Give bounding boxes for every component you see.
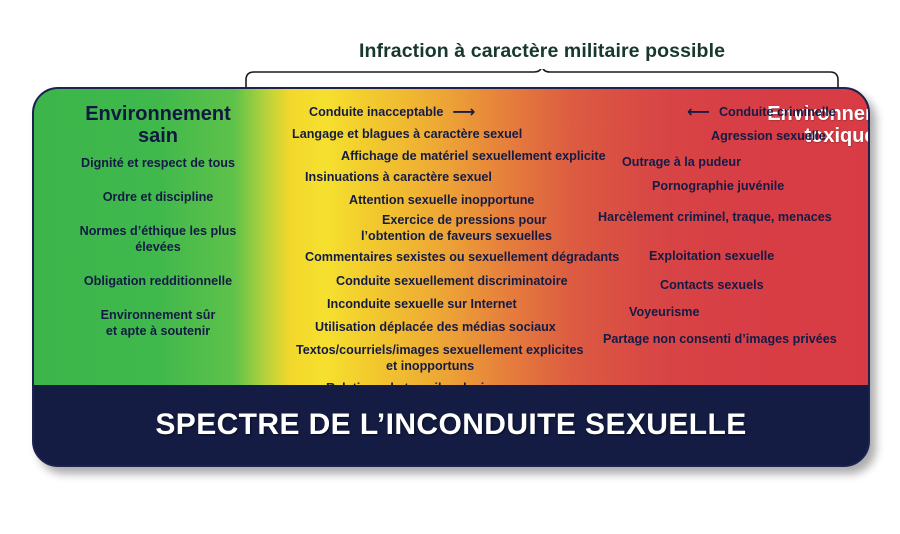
criminal-conduct-label: Conduite criminelle <box>719 105 836 119</box>
toxic-right-item: Harcèlement criminel, traque, menaces <box>598 210 832 225</box>
healthy-environment-column: Environnement sain Dignité et respect de… <box>34 89 282 385</box>
toxic-right-item: Partage non consenti d’images privées <box>603 332 837 347</box>
healthy-heading-line1: Environnement <box>85 103 231 125</box>
healthy-heading: Environnement sain <box>44 103 272 148</box>
toxic-right-item: Outrage à la pudeur <box>622 155 741 170</box>
arrow-left-icon: ⟵ <box>687 104 710 120</box>
toxic-middle-item: Exercice de pressions pour <box>382 213 547 228</box>
toxic-middle-item: Langage et blagues à caractère sexuel <box>292 127 522 142</box>
healthy-item: Obligation redditionnelle <box>34 274 282 289</box>
healthy-item: Ordre et discipline <box>34 190 282 205</box>
toxic-middle-item: Textos/courriels/images sexuellement exp… <box>296 343 583 358</box>
toxic-right-item: Agression sexuelle <box>711 129 826 144</box>
healthy-item: Environnement sûr <box>34 308 282 323</box>
unacceptable-conduct-label: Conduite inacceptable <box>309 105 443 119</box>
criminal-conduct-arrow-row: ⟵ Conduite criminelle <box>687 104 836 120</box>
toxic-environment-column: Environnement toxique Conduite inaccepta… <box>282 89 870 385</box>
banner: SPECTRE DE L’INCONDUITE SEXUELLE <box>34 385 868 465</box>
healthy-item: Dignité et respect de tous <box>34 156 282 171</box>
healthy-heading-line2: sain <box>138 125 178 147</box>
spectrum-panel: Environnement sain Dignité et respect de… <box>32 87 870 467</box>
toxic-middle-item: Inconduite sexuelle sur Internet <box>327 297 517 312</box>
toxic-right-item: Pornographie juvénile <box>652 179 784 194</box>
toxic-middle-item: Attention sexuelle inopportune <box>349 193 534 208</box>
toxic-right-item: Contacts sexuels <box>660 278 764 293</box>
toxic-middle-item-cont: et inopportuns <box>386 359 474 374</box>
toxic-middle-item-cont: l’obtention de faveurs sexuelles <box>361 229 552 244</box>
bracket-caption: Infraction à caractère militaire possibl… <box>245 40 839 63</box>
toxic-right-item: Voyeurisme <box>629 305 699 320</box>
bracket-curly <box>245 69 839 89</box>
toxic-right-item: Exploitation sexuelle <box>649 249 774 264</box>
arrow-right-icon: ⟶ <box>452 104 475 120</box>
unacceptable-conduct-arrow-row: Conduite inacceptable ⟶ <box>309 104 475 120</box>
toxic-middle-item: Commentaires sexistes ou sexuellement dé… <box>305 250 619 265</box>
healthy-item-cont: et apte à soutenir <box>34 324 282 339</box>
healthy-item: Normes d’éthique les plus <box>34 224 282 239</box>
toxic-middle-item: Affichage de matériel sexuellement expli… <box>341 149 606 164</box>
banner-title: SPECTRE DE L’INCONDUITE SEXUELLE <box>155 408 746 442</box>
toxic-middle-item: Conduite sexuellement discriminatoire <box>336 274 568 289</box>
spectrum-diagram: Infraction à caractère militaire possibl… <box>0 0 900 534</box>
toxic-middle-item: Insinuations à caractère sexuel <box>305 170 492 185</box>
toxic-middle-item: Utilisation déplacée des médias sociaux <box>315 320 556 335</box>
healthy-item-cont: élevées <box>34 240 282 255</box>
